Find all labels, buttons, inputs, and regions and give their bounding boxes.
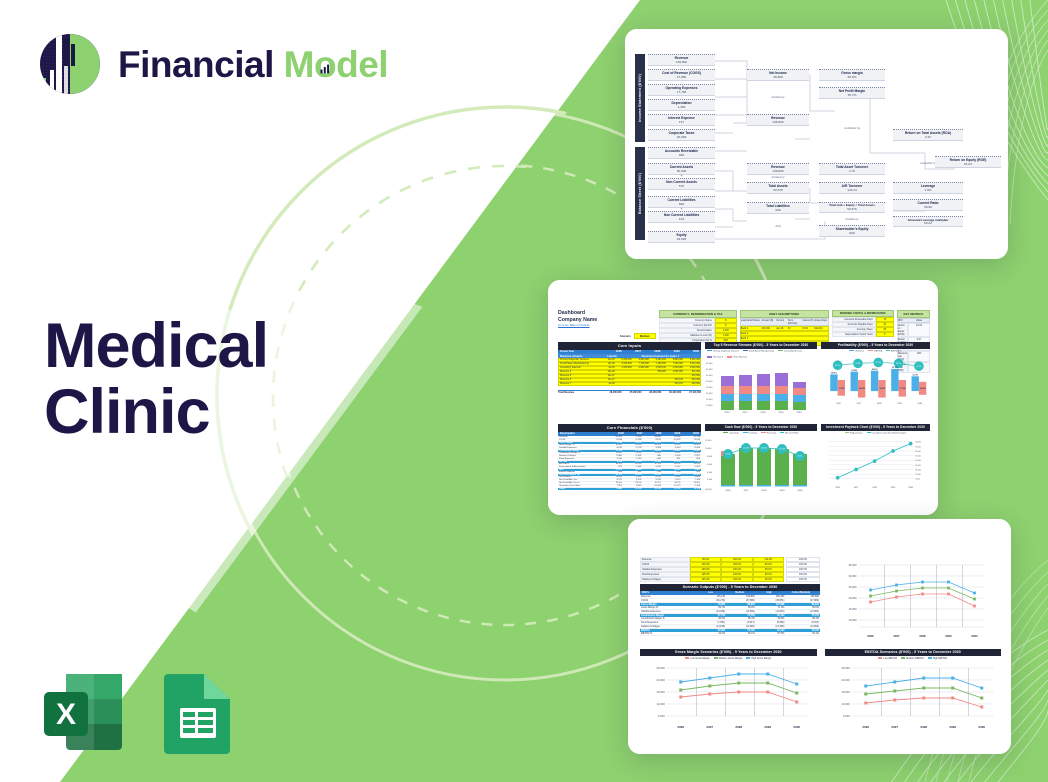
svg-text:35,000: 35,000: [706, 375, 713, 377]
svg-text:-17,200: -17,200: [838, 388, 844, 390]
svg-text:26,200: 26,200: [831, 373, 837, 375]
svg-text:21,110: 21,110: [912, 375, 918, 377]
svg-text:5,000: 5,000: [843, 714, 850, 718]
table-subheader-row: Revenue streams Launch Revenue Forecast …: [558, 354, 701, 358]
node-revenue-2: Revenue136,800: [747, 114, 809, 126]
svg-text:25,000: 25,000: [706, 387, 713, 389]
svg-text:60.1%: 60.1%: [916, 366, 922, 368]
panel-key-metrics: KEY METRICS NPVValue Return on Equity (R…: [897, 310, 930, 338]
app-icon-group: X: [40, 668, 238, 761]
node-financial-leverage-multiplier: Financial Leverage multiplier63.22: [893, 216, 963, 227]
svg-text:25,000: 25,000: [841, 666, 850, 670]
pie-bar-chart-circle-icon: [36, 30, 104, 98]
svg-text:2,000: 2,000: [707, 479, 713, 481]
svg-text:10,000: 10,000: [706, 405, 713, 407]
chart-title: Profitability ($'000) - 5 Years to Decem…: [821, 342, 930, 349]
svg-text:2029: 2029: [780, 490, 786, 492]
node-net-profit-margin: Net Profit Margin35.7%: [819, 87, 885, 99]
table-header-row: Loan/Grant Name Amount ($) Current Term …: [740, 318, 829, 326]
svg-text:4,000: 4,000: [707, 472, 713, 474]
svg-text:2027: 2027: [706, 725, 713, 729]
screenshot-card-dashboard[interactable]: Dashboard Company Name Go to the Table o…: [548, 280, 938, 515]
svg-text:10,159: 10,159: [743, 448, 749, 450]
chart-scenario-revenue: 35,000 30,000 25,000 20,000 15,000 10,00…: [828, 557, 1001, 645]
core-inputs-total-row: Total Revenue 26,200,000 27,900,000 28,2…: [558, 390, 701, 394]
scenario-table-rows: Revenue115,130136,800150,480136,800COGS(…: [640, 595, 820, 636]
svg-text:2028: 2028: [877, 403, 882, 405]
svg-text:11,000: 11,000: [915, 474, 920, 476]
table-row: 100.0%: [786, 577, 820, 582]
svg-text:35,000: 35,000: [849, 563, 857, 567]
panel-key-metrics-header: KEY METRICS: [897, 310, 930, 318]
svg-text:2026: 2026: [677, 725, 684, 729]
node-current-assets: Current Assets50,006: [648, 163, 715, 175]
core-inputs-header: Core Inputs: [558, 342, 701, 350]
svg-text:66.1%: 66.1%: [896, 363, 902, 365]
svg-text:66.2%: 66.2%: [835, 365, 841, 367]
svg-text:2030: 2030: [793, 725, 800, 729]
scenario-selector[interactable]: Medium: [634, 333, 656, 339]
svg-text:-14,200: -14,200: [920, 387, 926, 390]
brand-name-part2: M: [284, 44, 314, 85]
svg-text:8,106: 8,106: [726, 454, 731, 456]
node-roe: Return on Equity (ROE)61.03: [935, 156, 1001, 168]
panel-working-capital-header: WORKING CAPITAL & DEPRECIATION: [832, 310, 894, 317]
svg-text:10,000: 10,000: [841, 702, 850, 706]
table-row: Revenue 7Jul-28320,070620,000: [558, 382, 701, 386]
panel-currency-header: CURRENCY, DENOMINATION & TAX: [659, 310, 737, 318]
scenario-revenue-line-chart: 35,000 30,000 25,000 20,000 15,000 10,00…: [828, 557, 1001, 645]
svg-text:-: -: [710, 484, 711, 486]
node-depreciation: Depreciation1,265: [648, 99, 715, 111]
svg-text:2030: 2030: [797, 412, 803, 414]
svg-text:25,000: 25,000: [849, 585, 857, 589]
brand-name-part3: del: [336, 44, 388, 85]
table-header-row: Fiscal Year 2026 2027 2028 2029 2030: [558, 350, 701, 354]
dupont-tree: Income Statement ($'000) Balance Sheet (…: [635, 51, 1002, 245]
panel-currency-rows: Currency Name$ Currency Symbol$ Denomina…: [659, 318, 737, 343]
node-non-current-assets: Non Current Assets570: [648, 178, 715, 190]
table-row: Totals8,48410,10010,10011,10010,110: [558, 488, 701, 490]
svg-text:2030: 2030: [798, 490, 804, 492]
svg-text:2029: 2029: [891, 487, 896, 489]
svg-text:2028: 2028: [761, 412, 767, 414]
chart-profitability: Profitability ($'000) - 5 Years to Decem…: [821, 342, 930, 420]
node-total-assets: Total Assets50,576: [747, 182, 809, 194]
node-corporate-taxes: Corporate Taxes20,928: [648, 129, 715, 141]
payback-line-chart: 72,000 71,000 61,000 51,000 41,000 31,00…: [821, 434, 930, 492]
section-label-income-statement: Income Statement ($'000): [635, 54, 645, 142]
panel-debt-header: DEBT ASSUMPTIONS: [740, 310, 829, 318]
svg-text:2028: 2028: [762, 490, 768, 492]
svg-text:20,000: 20,000: [706, 393, 713, 395]
svg-text:45,000: 45,000: [706, 363, 713, 365]
svg-text:12,000: 12,000: [705, 440, 712, 442]
screenshot-card-scenario[interactable]: Revenue80.0%100.0%110.0%COGS105.0%100.0%…: [628, 519, 1011, 754]
chart-gross-margin-scenarios: Gross Margin Scenarios ($'000) - 5 Years…: [640, 649, 817, 734]
svg-text:65.9%: 65.9%: [855, 363, 861, 365]
operator-multiplied-by-1: multiplied by: [819, 126, 885, 130]
svg-text:2027: 2027: [857, 403, 862, 405]
svg-text:2029: 2029: [949, 725, 956, 729]
svg-text:2027: 2027: [744, 490, 750, 492]
svg-text:10,000: 10,000: [657, 702, 666, 706]
svg-text:2027: 2027: [891, 725, 898, 729]
chart-title: Cash flow ($'000) - 5 Years to December …: [705, 424, 817, 431]
svg-text:15,000: 15,000: [657, 690, 666, 694]
svg-text:2026: 2026: [726, 490, 732, 492]
chart-title: Investment Payback Chart ($'000) - 5 Yea…: [821, 424, 930, 431]
svg-text:10,000: 10,000: [705, 448, 712, 450]
svg-text:(2,000): (2,000): [705, 489, 712, 491]
chart-ebitda-scenarios: EBITDA Scenarios ($'000) - 5 Years to De…: [825, 649, 1002, 734]
node-interest-expense: Interest Expense137: [648, 114, 715, 126]
node-non-current-liabilities: Non Current Liabilities103: [648, 211, 715, 223]
svg-text:40,000: 40,000: [706, 369, 713, 371]
node-roa: Return on Total Assets (ROA)0.97: [893, 129, 963, 141]
svg-text:2027: 2027: [743, 412, 749, 414]
svg-text:61,000: 61,000: [915, 451, 921, 453]
svg-text:67.2%: 67.2%: [876, 362, 882, 364]
svg-text:20,000: 20,000: [849, 596, 857, 600]
node-shareholders-equity: Shareholder's Equity800: [819, 225, 885, 237]
table-of-contents-link[interactable]: Go to the Table of Contents: [558, 324, 656, 327]
svg-text:2029: 2029: [945, 634, 952, 638]
node-current-ratio: Current Ratio58.98: [893, 199, 963, 211]
svg-text:-: -: [709, 410, 710, 412]
svg-text:2028: 2028: [735, 725, 742, 729]
table-row: Salaries & Wages105.0%100.0%98.0%: [640, 577, 784, 582]
svg-text:15,000: 15,000: [849, 607, 857, 611]
ebitda-line-chart: 25,000 20,000 15,000 10,000 5,000: [825, 660, 1002, 732]
svg-text:30,000: 30,000: [706, 381, 713, 383]
node-net-income: Net Income48,828: [747, 69, 809, 81]
svg-text:20,000: 20,000: [841, 678, 850, 682]
page-title: Medical Clinic: [44, 313, 268, 445]
svg-text:2030: 2030: [918, 403, 923, 405]
panel-working-capital: WORKING CAPITAL & DEPRECIATION Accounts …: [832, 310, 894, 338]
svg-text:15,000: 15,000: [706, 399, 713, 401]
svg-text:30,100: 30,100: [892, 367, 898, 369]
svg-text:2028: 2028: [920, 725, 927, 729]
chart-investment-payback: Investment Payback Chart ($'000) - 5 Yea…: [821, 424, 930, 502]
svg-text:2028: 2028: [872, 487, 877, 489]
svg-text:X: X: [56, 698, 76, 731]
panel-currency: CURRENCY, DENOMINATION & TAX Currency Na…: [659, 310, 737, 338]
svg-text:2029: 2029: [897, 403, 902, 405]
core-financials-header: Core Financials ($'000): [558, 424, 701, 432]
node-current-liabilities: Current Liabilities848: [648, 196, 715, 208]
svg-text:15,000: 15,000: [841, 690, 850, 694]
svg-text:-19,310: -19,310: [879, 388, 885, 390]
dashboard-subtitle: Company Name: [558, 317, 656, 324]
gross-margin-line-chart: 25,000 20,000 15,000 10,000 5,000: [640, 660, 817, 732]
scenario-assumptions: Revenue80.0%100.0%110.0%COGS105.0%100.0%…: [640, 557, 820, 582]
svg-text:8,721: 8,721: [798, 456, 803, 458]
svg-text:2030: 2030: [908, 487, 913, 489]
svg-text:6,000: 6,000: [707, 464, 713, 466]
operator-divided-by-2: divided by: [747, 175, 809, 179]
svg-text:2027: 2027: [893, 634, 900, 638]
node-ar-turnover: A/R Turnover144.24: [819, 182, 885, 194]
svg-text:10,100: 10,100: [779, 449, 785, 451]
svg-text:2030: 2030: [971, 634, 978, 638]
page-title-line1: Medical: [44, 313, 268, 379]
scenario-table-header: Scenario Outputs ($'000) - 5 Years to De…: [640, 584, 820, 591]
brand-logo: Financial Model: [36, 30, 388, 98]
svg-text:20,000: 20,000: [657, 678, 666, 682]
node-total-liab-equity: Total Liab + Equity = Total Assets50,576: [819, 202, 885, 213]
dashboard-title-block: Dashboard Company Name Go to the Table o…: [558, 310, 656, 338]
chart-cash-flow: Cash flow ($'000) - 5 Years to December …: [705, 424, 817, 502]
chart-top5-revenue: Top 5 Revenue Streams ($'000) - 5 Years …: [705, 342, 817, 420]
svg-text:2029: 2029: [779, 412, 785, 414]
dashboard-body: Dashboard Company Name Go to the Table o…: [558, 310, 930, 499]
svg-text:51,000: 51,000: [915, 456, 921, 458]
node-accounts-receivable: Accounts Receivable948: [648, 147, 715, 159]
svg-text:21,000: 21,000: [915, 470, 921, 472]
node-operating-expenses: Operating Expenses17,758: [648, 84, 715, 96]
node-revenue: Revenue136,800: [648, 54, 715, 66]
cash-flow-chart: 12,00010,0008,000 6,0004,0002,000 -(2,00…: [705, 434, 817, 492]
node-equity: Equity49,626: [648, 231, 715, 243]
node-gross-margin: Gross margin65.0%: [819, 69, 885, 81]
chart-title: EBITDA Scenarios ($'000) - 5 Years to De…: [825, 649, 1002, 656]
node-leverage: Leverage1.0%: [893, 182, 963, 194]
table-row: Return on Equity (ROE)61.03: [897, 323, 930, 337]
svg-text:10,000: 10,000: [849, 618, 857, 622]
svg-text:28,200: 28,200: [872, 369, 878, 371]
node-total-liabilities: Total Liabilities949: [747, 202, 809, 214]
svg-text:2026: 2026: [835, 487, 840, 489]
microsoft-excel-icon: X: [40, 668, 128, 761]
page-title-line2: Clinic: [44, 379, 268, 445]
svg-text:72,000: 72,000: [915, 442, 921, 444]
svg-text:2029: 2029: [764, 725, 771, 729]
svg-text:1,000: 1,000: [915, 479, 920, 481]
brand-name-part1: Financial: [118, 44, 274, 85]
svg-text:-17,300: -17,300: [899, 388, 905, 390]
chart-legend: Primary Diagnostic Services Small Batch …: [707, 350, 817, 359]
svg-text:2026: 2026: [867, 634, 874, 638]
node-cogs: Cost of Revenue (COGS)47,880: [648, 69, 715, 81]
brand-name: Financial Model: [118, 46, 388, 83]
stacked-bar-chart: 45,00040,00035,000 30,00025,00020,000 15…: [705, 358, 817, 414]
svg-text:8,000: 8,000: [707, 456, 713, 458]
operator-divided-by-1: divided by: [747, 95, 809, 99]
core-inputs-rows: Primary Diagnostic ServicesJan-268,450,0…: [558, 358, 701, 386]
scenario-left: Revenue80.0%100.0%110.0%COGS105.0%100.0%…: [640, 557, 820, 645]
svg-text:27,900: 27,900: [851, 370, 857, 372]
svg-text:2030: 2030: [978, 725, 985, 729]
bar-line-chart: 66.2% 65.9% 67.2% 66.1% 60.1% 26,200-17,…: [821, 352, 930, 408]
google-sheets-icon: [156, 668, 238, 761]
table-row: EBITDA %44.2%52.1%57.5%52.1%: [640, 632, 820, 636]
svg-text:31,000: 31,000: [915, 465, 921, 467]
screenshot-card-dupont[interactable]: Income Statement ($'000) Balance Sheet (…: [625, 29, 1008, 259]
panel-debt: DEBT ASSUMPTIONS Loan/Grant Name Amount …: [740, 310, 829, 338]
core-financials-table: Core Financials ($'000) Description 2026…: [558, 424, 701, 502]
section-label-balance-sheet: Balance Sheet ($'000): [635, 147, 645, 240]
svg-text:2026: 2026: [836, 403, 841, 405]
chart-title: Gross Margin Scenarios ($'000) - 5 Years…: [640, 649, 817, 656]
svg-text:2026: 2026: [725, 412, 731, 414]
scenario-body: Revenue80.0%100.0%110.0%COGS105.0%100.0%…: [640, 557, 1001, 736]
svg-text:2028: 2028: [919, 634, 926, 638]
svg-text:10,700: 10,700: [761, 448, 767, 450]
operator-add: Add: [747, 224, 809, 228]
svg-text:41,000: 41,000: [915, 460, 921, 462]
table-row: Depreciation Useful Years5: [832, 332, 894, 337]
node-revenue-3: Revenue136,800: [747, 163, 809, 175]
left-content-panel: Financial Model Medical Clinic X: [0, 0, 470, 782]
operator-divided-by-3: divided by: [819, 217, 885, 221]
svg-text:2026: 2026: [862, 725, 869, 729]
core-financials-rows: Revenue26,20077,50028,20030,10021,110COG…: [558, 436, 701, 490]
node-total-asset-turnover: Total Asset Turnover2.70: [819, 163, 885, 175]
svg-text:-19,500: -19,500: [859, 388, 865, 390]
chart-title: Top 5 Revenue Streams ($'000) - 5 Years …: [705, 342, 817, 349]
svg-text:30,000: 30,000: [849, 574, 857, 578]
poster-canvas: Financial Model Medical Clinic X: [0, 0, 1048, 782]
brand-o-chart-icon: o: [314, 46, 336, 83]
core-inputs-table: Core Inputs Fiscal Year 2026 2027 2028 2…: [558, 342, 701, 420]
svg-text:25,000: 25,000: [657, 666, 666, 670]
svg-text:2027: 2027: [854, 487, 859, 489]
svg-text:5,000: 5,000: [658, 714, 665, 718]
scenario-label: Scenario: [620, 335, 631, 338]
svg-text:71,000: 71,000: [915, 446, 921, 448]
